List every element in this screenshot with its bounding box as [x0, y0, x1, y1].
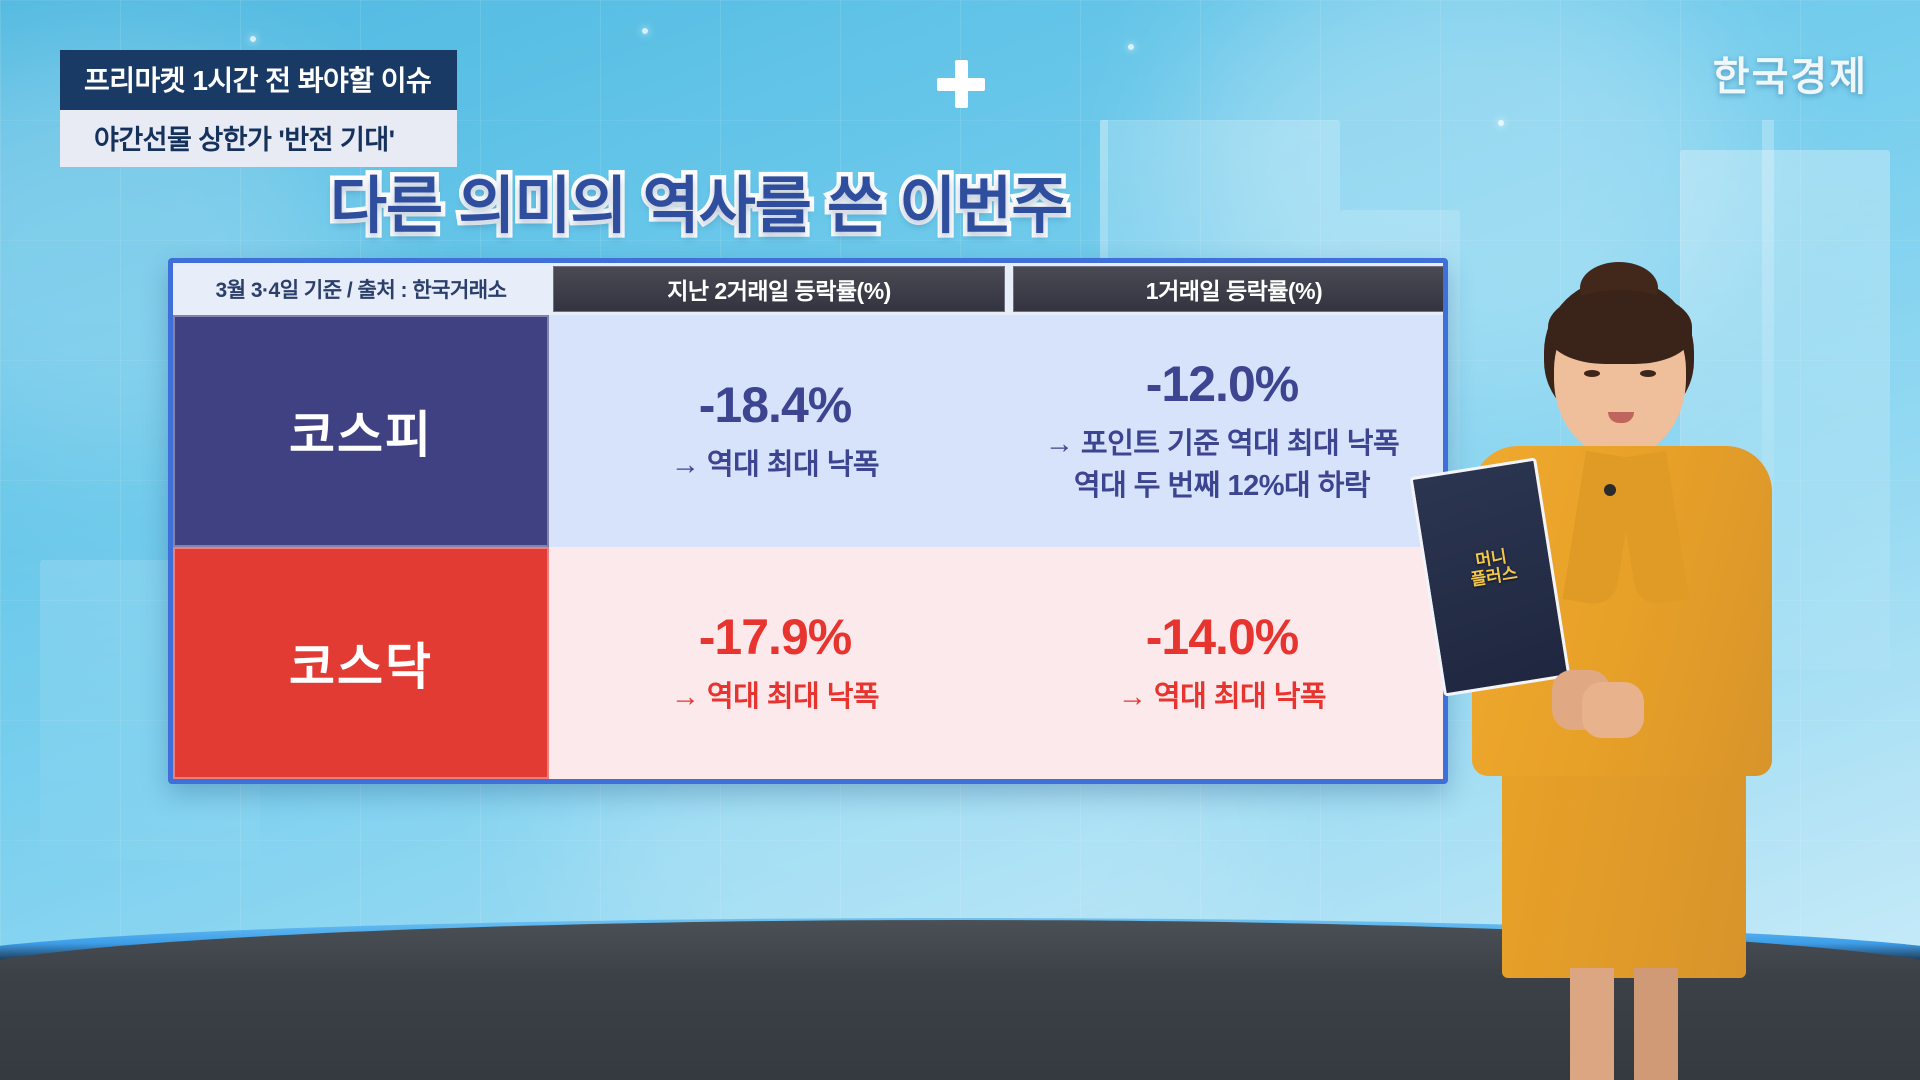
- table-row: 코스피 -18.4% → 역대 최대 낙폭 -12.0% → 포인트 기준 역대…: [173, 315, 1443, 547]
- index-name-kospi: 코스피: [173, 315, 549, 547]
- presenter-eye-left: [1584, 370, 1600, 377]
- note-kospi-one-day-1: → 포인트 기준 역대 최대 낙폭: [1045, 423, 1399, 465]
- table-row: 코스닥 -17.9% → 역대 최대 낙폭 -14.0% → 역대 최대 낙폭: [173, 547, 1443, 779]
- note-kospi-one-day-2: 역대 두 번째 12%대 하락: [1074, 465, 1370, 507]
- table-source-note: 3월 3·4일 기준 / 출처 : 한국거래소: [173, 263, 549, 315]
- studio-dot: [642, 28, 648, 34]
- broadcast-screen: 프리마켓 1시간 전 봐야할 이슈 야간선물 상한가 '반전 기대' 한국경제 …: [0, 0, 1920, 1080]
- news-banner: 프리마켓 1시간 전 봐야할 이슈 야간선물 상한가 '반전 기대': [60, 50, 457, 167]
- cell-kosdaq-one-day: -14.0% → 역대 최대 낙폭: [1001, 547, 1443, 779]
- table-column-header-two-day: 지난 2거래일 등락률(%): [553, 266, 1005, 312]
- presenter-hand-right: [1582, 682, 1644, 738]
- value-kosdaq-two-day: -17.9%: [699, 608, 851, 666]
- banner-headline-primary: 프리마켓 1시간 전 봐야할 이슈: [60, 50, 457, 110]
- presenter-skirt: [1502, 762, 1746, 978]
- presenter-leg-right: [1634, 968, 1678, 1080]
- presenter: 머니 플러스: [1458, 278, 1788, 1080]
- market-table: 3월 3·4일 기준 / 출처 : 한국거래소 지난 2거래일 등락률(%) 1…: [168, 258, 1448, 784]
- presenter-eye-right: [1640, 370, 1656, 377]
- value-kospi-one-day: -12.0%: [1146, 355, 1298, 413]
- presenter-hair-front: [1548, 290, 1692, 364]
- note-kosdaq-one-day-1: → 역대 최대 낙폭: [1118, 676, 1326, 718]
- channel-logo: 한국경제: [1713, 44, 1868, 102]
- cell-kospi-two-day: -18.4% → 역대 최대 낙폭: [549, 315, 1001, 547]
- page-title: 다른 의미의 역사를 쓴 이번주: [330, 155, 1067, 245]
- table-header-row: 3월 3·4일 기준 / 출처 : 한국거래소 지난 2거래일 등락률(%) 1…: [173, 263, 1443, 315]
- studio-dot: [1128, 44, 1134, 50]
- index-name-kosdaq: 코스닥: [173, 547, 549, 779]
- banner-headline-secondary: 야간선물 상한가 '반전 기대': [60, 110, 457, 167]
- value-kospi-two-day: -18.4%: [699, 376, 851, 434]
- studio-dot: [1498, 120, 1504, 126]
- cell-kospi-one-day: -12.0% → 포인트 기준 역대 최대 낙폭 역대 두 번째 12%대 하락: [1001, 315, 1443, 547]
- note-kospi-two-day-1: → 역대 최대 낙폭: [671, 444, 879, 486]
- studio-dot: [250, 36, 256, 42]
- value-kosdaq-one-day: -14.0%: [1146, 608, 1298, 666]
- presenter-leg-left: [1570, 968, 1614, 1080]
- plus-icon: [935, 58, 987, 110]
- note-kosdaq-two-day-1: → 역대 최대 낙폭: [671, 676, 879, 718]
- cell-kosdaq-two-day: -17.9% → 역대 최대 낙폭: [549, 547, 1001, 779]
- table-column-header-one-day: 1거래일 등락률(%): [1013, 266, 1448, 312]
- microphone-icon: [1604, 484, 1616, 496]
